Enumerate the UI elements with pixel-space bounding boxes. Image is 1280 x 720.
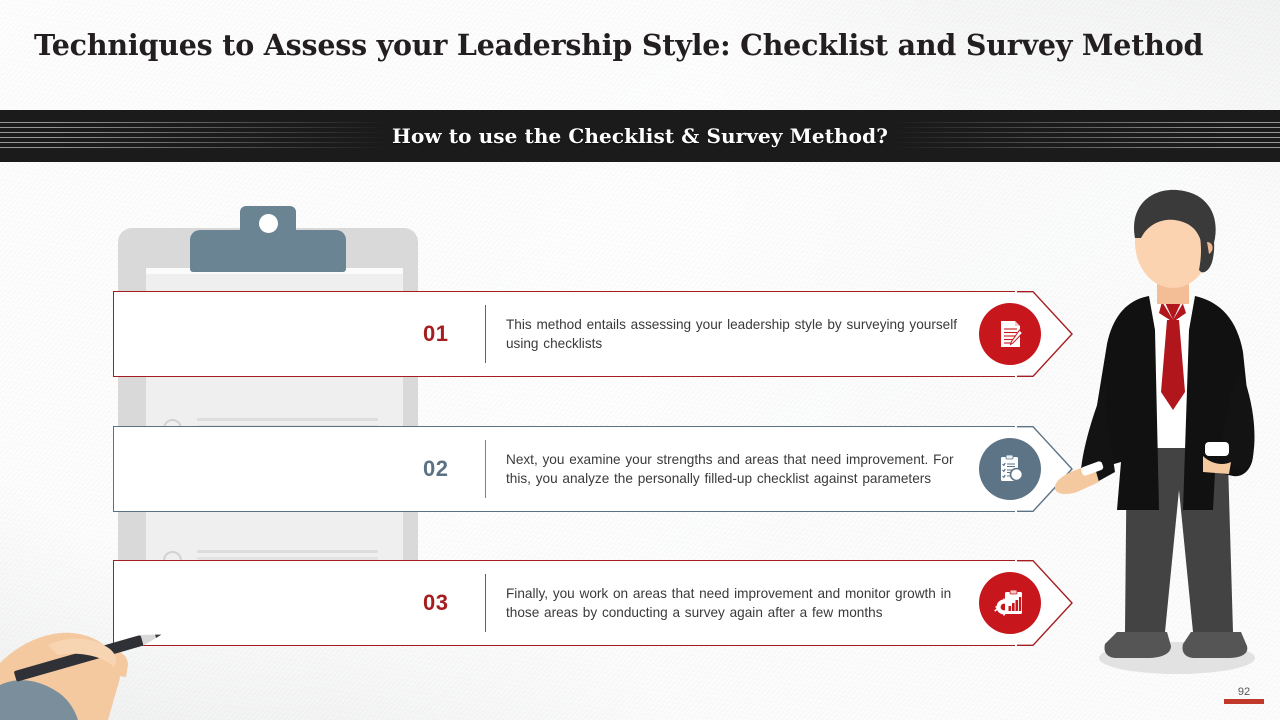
step-divider [485,440,486,498]
step-number: 03 [423,560,448,646]
page-number-block: 92 [1224,686,1264,704]
step-icon-wrap [974,298,1046,370]
step-description: This method entails assessing your leade… [506,291,961,377]
step-description: Finally, you work on areas that need imp… [506,560,961,646]
step-description: Next, you examine your strengths and are… [506,426,961,512]
page-number-bar [1224,699,1264,704]
document-pen-icon [979,303,1041,365]
step-row-02[interactable]: 02 Next, you examine your strengths and … [113,426,1071,512]
slide-canvas: Techniques to Assess your Leadership Sty… [0,0,1280,720]
step-number: 02 [423,426,448,512]
hand-with-pencil-illustration [0,545,230,720]
checklist-magnifier-icon [979,438,1041,500]
step-row-01[interactable]: 01 This method entails assessing your le… [113,291,1071,377]
step-icon-wrap [974,433,1046,505]
businessman-illustration [1055,180,1280,680]
step-number: 01 [423,291,448,377]
clipboard-chart-gear-icon [979,572,1041,634]
step-icon-wrap [974,567,1046,639]
step-divider [485,574,486,632]
step-divider [485,305,486,363]
step-row-03[interactable]: 03 Finally, you work on areas that need … [113,560,1071,646]
page-number: 92 [1224,686,1264,698]
